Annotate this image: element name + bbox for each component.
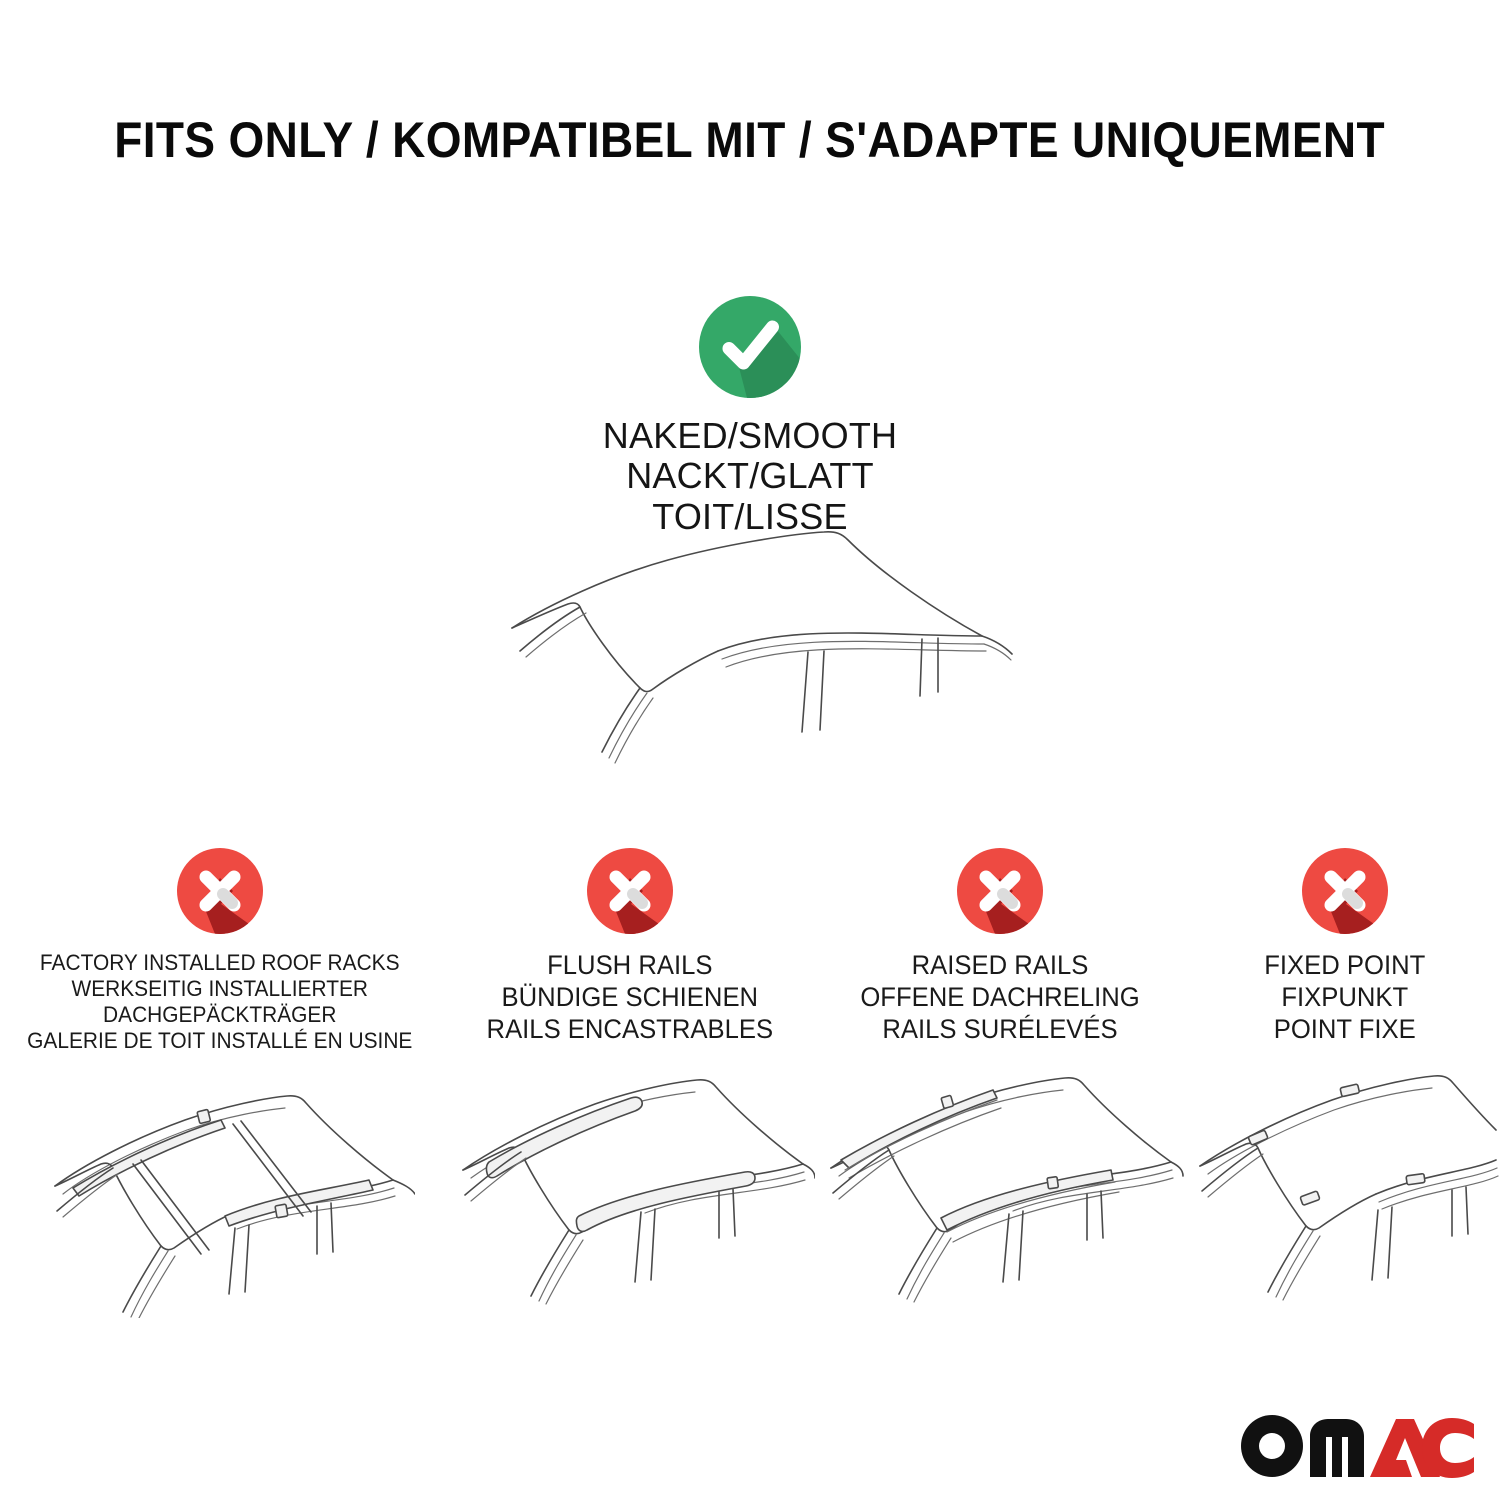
label-line-3: DACHGEPÄCKTRÄGER — [27, 1002, 412, 1028]
incompatible-label-factory-installed-roof-racks: FACTORY INSTALLED ROOF RACKS WERKSEITIG … — [27, 950, 412, 1054]
incompatible-item-raised-rails: RAISED RAILS OFFENE DACHRELING RAILS SUR… — [815, 848, 1185, 1315]
label-line-3: POINT FIXE — [1264, 1014, 1425, 1046]
omac-logo — [1238, 1410, 1474, 1482]
car-roof-fixed-point-illustration — [1190, 1060, 1500, 1315]
page-header: FITS ONLY / KOMPATIBEL MIT / S'ADAPTE UN… — [0, 104, 1500, 176]
compatible-label-line-2: NACKT/GLATT — [603, 456, 897, 496]
label-line-1: FACTORY INSTALLED ROOF RACKS — [27, 950, 412, 976]
compatible-label: NAKED/SMOOTH NACKT/GLATT TOIT/LISSE — [603, 416, 897, 537]
x-circle-icon — [1302, 848, 1388, 934]
x-circle-icon — [177, 848, 263, 934]
label-line-3: RAILS SURÉLEVÉS — [860, 1014, 1139, 1046]
label-line-3: RAILS ENCASTRABLES — [487, 1014, 774, 1046]
x-circle-icon — [587, 848, 673, 934]
compatible-label-line-1: NAKED/SMOOTH — [603, 416, 897, 456]
incompatible-label-fixed-point: FIXED POINT FIXPUNKT POINT FIXE — [1264, 950, 1425, 1046]
incompatible-item-flush-rails: FLUSH RAILS BÜNDIGE SCHIENEN RAILS ENCAS… — [445, 848, 815, 1315]
incompatible-label-raised-rails: RAISED RAILS OFFENE DACHRELING RAILS SUR… — [860, 950, 1139, 1046]
label-line-1: RAISED RAILS — [860, 950, 1139, 982]
car-roof-flush-rails-illustration — [445, 1060, 815, 1315]
incompatible-item-factory-installed-roof-racks: FACTORY INSTALLED ROOF RACKS WERKSEITIG … — [5, 848, 435, 1323]
car-roof-naked-smooth-illustration — [490, 520, 1030, 810]
incompatible-item-fixed-point: FIXED POINT FIXPUNKT POINT FIXE — [1195, 848, 1495, 1315]
incompatible-section: FACTORY INSTALLED ROOF RACKS WERKSEITIG … — [0, 848, 1500, 1323]
car-roof-raised-rails-illustration — [815, 1060, 1185, 1315]
label-line-1: FIXED POINT — [1264, 950, 1425, 982]
label-line-2: FIXPUNKT — [1264, 982, 1425, 1014]
label-line-2: BÜNDIGE SCHIENEN — [487, 982, 774, 1014]
label-line-2: OFFENE DACHRELING — [860, 982, 1139, 1014]
label-line-2: WERKSEITIG INSTALLIERTER — [27, 976, 412, 1002]
car-roof-factory-racks-illustration — [25, 1068, 415, 1323]
compatible-section: NAKED/SMOOTH NACKT/GLATT TOIT/LISSE — [0, 296, 1500, 537]
page-title: FITS ONLY / KOMPATIBEL MIT / S'ADAPTE UN… — [115, 111, 1386, 169]
label-line-1: FLUSH RAILS — [487, 950, 774, 982]
incompatible-label-flush-rails: FLUSH RAILS BÜNDIGE SCHIENEN RAILS ENCAS… — [487, 950, 774, 1046]
check-circle-icon — [699, 296, 801, 398]
label-line-4: GALERIE DE TOIT INSTALLÉ EN USINE — [27, 1028, 412, 1054]
x-circle-icon — [957, 848, 1043, 934]
